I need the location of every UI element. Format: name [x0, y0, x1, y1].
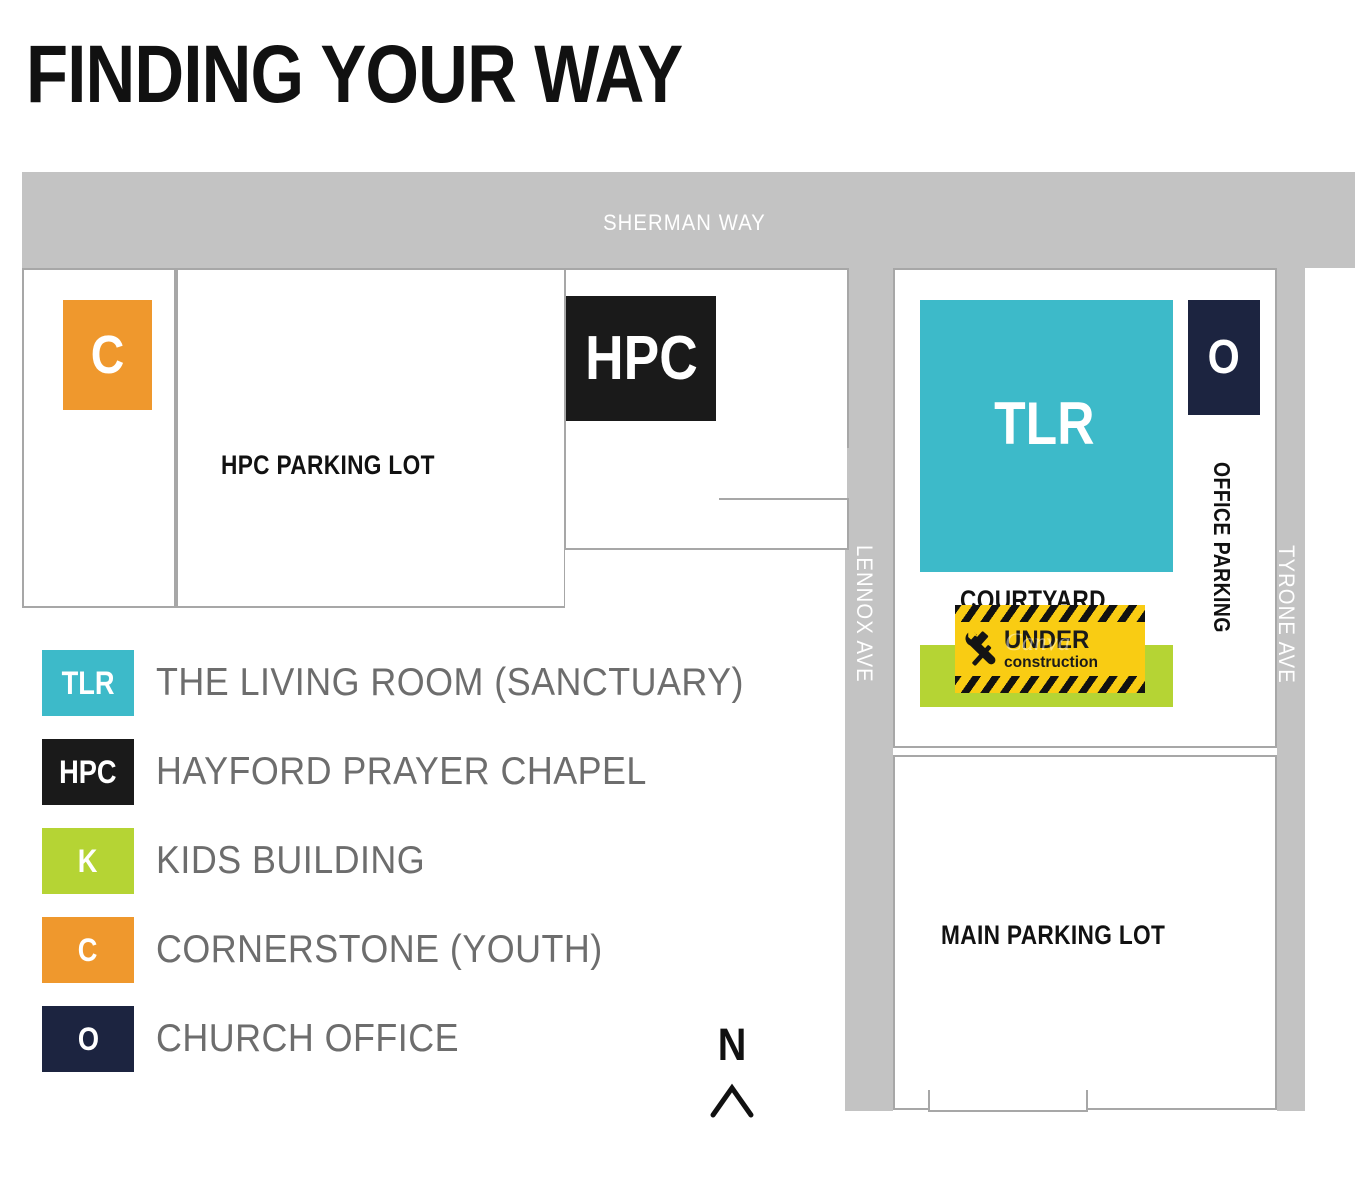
building-cornerstone[interactable]: C — [63, 300, 152, 410]
sticker-line-construction: construction — [1004, 655, 1098, 671]
legend-swatch-cornerstone: C — [42, 917, 134, 983]
legend-label-hpc: HAYFORD PRAYER CHAPEL — [156, 750, 647, 794]
north-arrow-icon — [709, 1079, 755, 1119]
legend-code-cornerstone: C — [78, 932, 98, 969]
building-code-office: O — [1208, 330, 1240, 385]
map-legend: TLR THE LIVING ROOM (SANCTUARY) HPC HAYF… — [42, 650, 802, 1095]
legend-swatch-office: O — [42, 1006, 134, 1072]
legend-code-kids: K — [78, 843, 98, 880]
building-church-office[interactable]: O — [1188, 300, 1260, 415]
building-hayford-prayer-chapel[interactable]: HPC — [566, 296, 716, 421]
building-the-living-room[interactable]: TLR — [920, 300, 1173, 572]
legend-item-kids[interactable]: K KIDS BUILDING — [42, 828, 802, 894]
road-label-lennox-ave: LENNOX AVE — [851, 545, 877, 683]
label-hpc-parking-lot: HPC PARKING LOT — [221, 450, 435, 481]
road-label-sherman-way: SHERMAN WAY — [603, 210, 766, 236]
building-code-hpc: HPC — [585, 323, 698, 394]
under-construction-sticker: UNDER construction Canva — [955, 605, 1145, 693]
compass-north-label: N — [704, 1022, 760, 1067]
legend-label-kids: KIDS BUILDING — [156, 839, 425, 883]
legend-code-hpc: HPC — [59, 754, 116, 791]
legend-code-tlr: TLR — [62, 665, 115, 702]
road-tyrone-ave — [1277, 268, 1305, 1111]
parcel-step-cover-c — [178, 270, 564, 606]
legend-item-tlr[interactable]: TLR THE LIVING ROOM (SANCTUARY) — [42, 650, 802, 716]
legend-swatch-kids: K — [42, 828, 134, 894]
legend-item-office[interactable]: O CHURCH OFFICE — [42, 1006, 802, 1072]
legend-label-tlr: THE LIVING ROOM (SANCTUARY) — [156, 661, 744, 705]
compass-rose: N — [700, 1022, 764, 1124]
building-code-cornerstone: C — [91, 324, 125, 386]
hazard-stripe-top — [955, 605, 1145, 622]
legend-code-office: O — [77, 1021, 98, 1058]
legend-label-office: CHURCH OFFICE — [156, 1017, 459, 1061]
legend-item-hpc[interactable]: HPC HAYFORD PRAYER CHAPEL — [42, 739, 802, 805]
page-title: FINDING YOUR WAY — [26, 34, 682, 116]
parcel-step-cover-e — [566, 500, 847, 548]
main-lot-driveway-notch-fill — [930, 1088, 1086, 1110]
hazard-stripe-bottom — [955, 676, 1145, 693]
hammer-wrench-icon — [959, 628, 1003, 670]
legend-swatch-hpc: HPC — [42, 739, 134, 805]
legend-label-cornerstone: CORNERSTONE (YOUTH) — [156, 928, 603, 972]
label-office-parking: OFFICE PARKING — [1208, 462, 1235, 633]
sticker-line-under: UNDER — [1004, 628, 1097, 653]
legend-item-cornerstone[interactable]: C CORNERSTONE (YOUTH) — [42, 917, 802, 983]
building-code-tlr: TLR — [994, 389, 1094, 458]
road-lennox-ave — [845, 268, 893, 1111]
legend-swatch-tlr: TLR — [42, 650, 134, 716]
label-main-parking-lot: MAIN PARKING LOT — [941, 920, 1165, 951]
